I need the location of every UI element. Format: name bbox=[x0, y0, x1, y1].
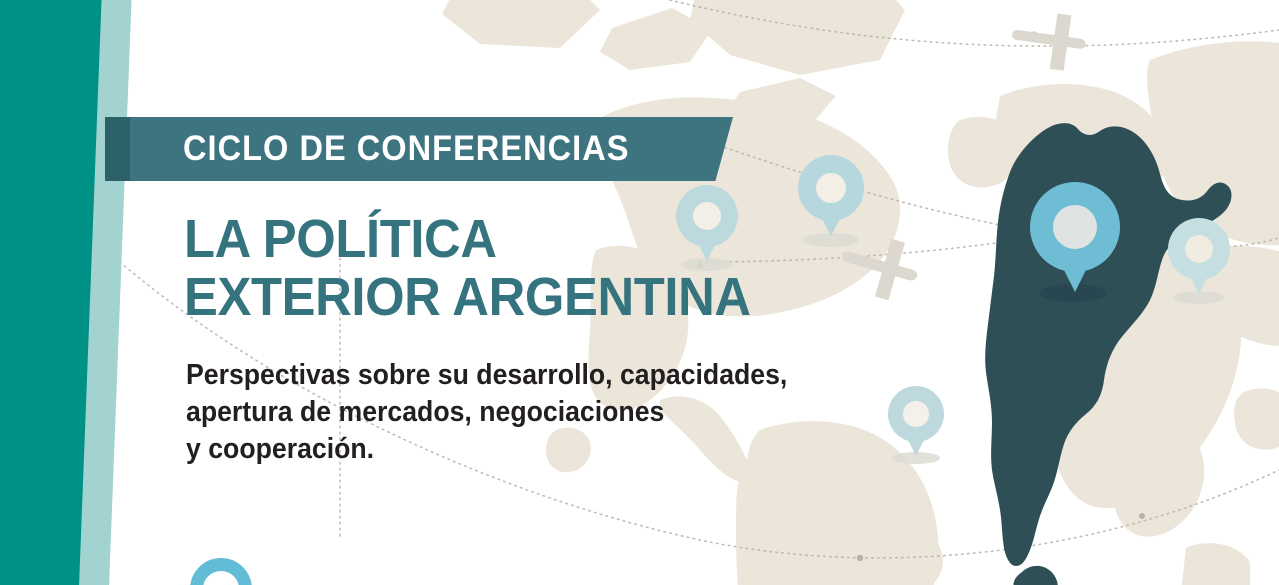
page-subtitle: Perspectivas sobre su desarrollo, capaci… bbox=[186, 357, 787, 468]
page-title: LA POLÍTICA EXTERIOR ARGENTINA bbox=[184, 210, 751, 326]
airplane-icon-top bbox=[1008, 8, 1089, 74]
banner-label: CICLO DE CONFERENCIAS bbox=[183, 117, 629, 181]
map-pin-argentina bbox=[1030, 182, 1120, 300]
page-subtitle-line-2: apertura de mercados, negociaciones bbox=[186, 394, 787, 431]
map-pin-south-america bbox=[888, 386, 944, 464]
conference-poster: CICLO DE CONFERENCIAS LA POLÍTICA EXTERI… bbox=[0, 0, 1279, 585]
map-pin-africa bbox=[1168, 218, 1230, 304]
page-title-line-1: LA POLÍTICA bbox=[184, 209, 497, 269]
page-subtitle-line-3: y cooperación. bbox=[186, 431, 787, 468]
page-subtitle-line-1: Perspectivas sobre su desarrollo, capaci… bbox=[186, 357, 787, 394]
page-title-line-2: EXTERIOR ARGENTINA bbox=[184, 268, 751, 326]
banner: CICLO DE CONFERENCIAS bbox=[105, 117, 733, 181]
map-pin-north-america-east bbox=[798, 155, 864, 247]
banner-overlap-block bbox=[105, 117, 130, 181]
